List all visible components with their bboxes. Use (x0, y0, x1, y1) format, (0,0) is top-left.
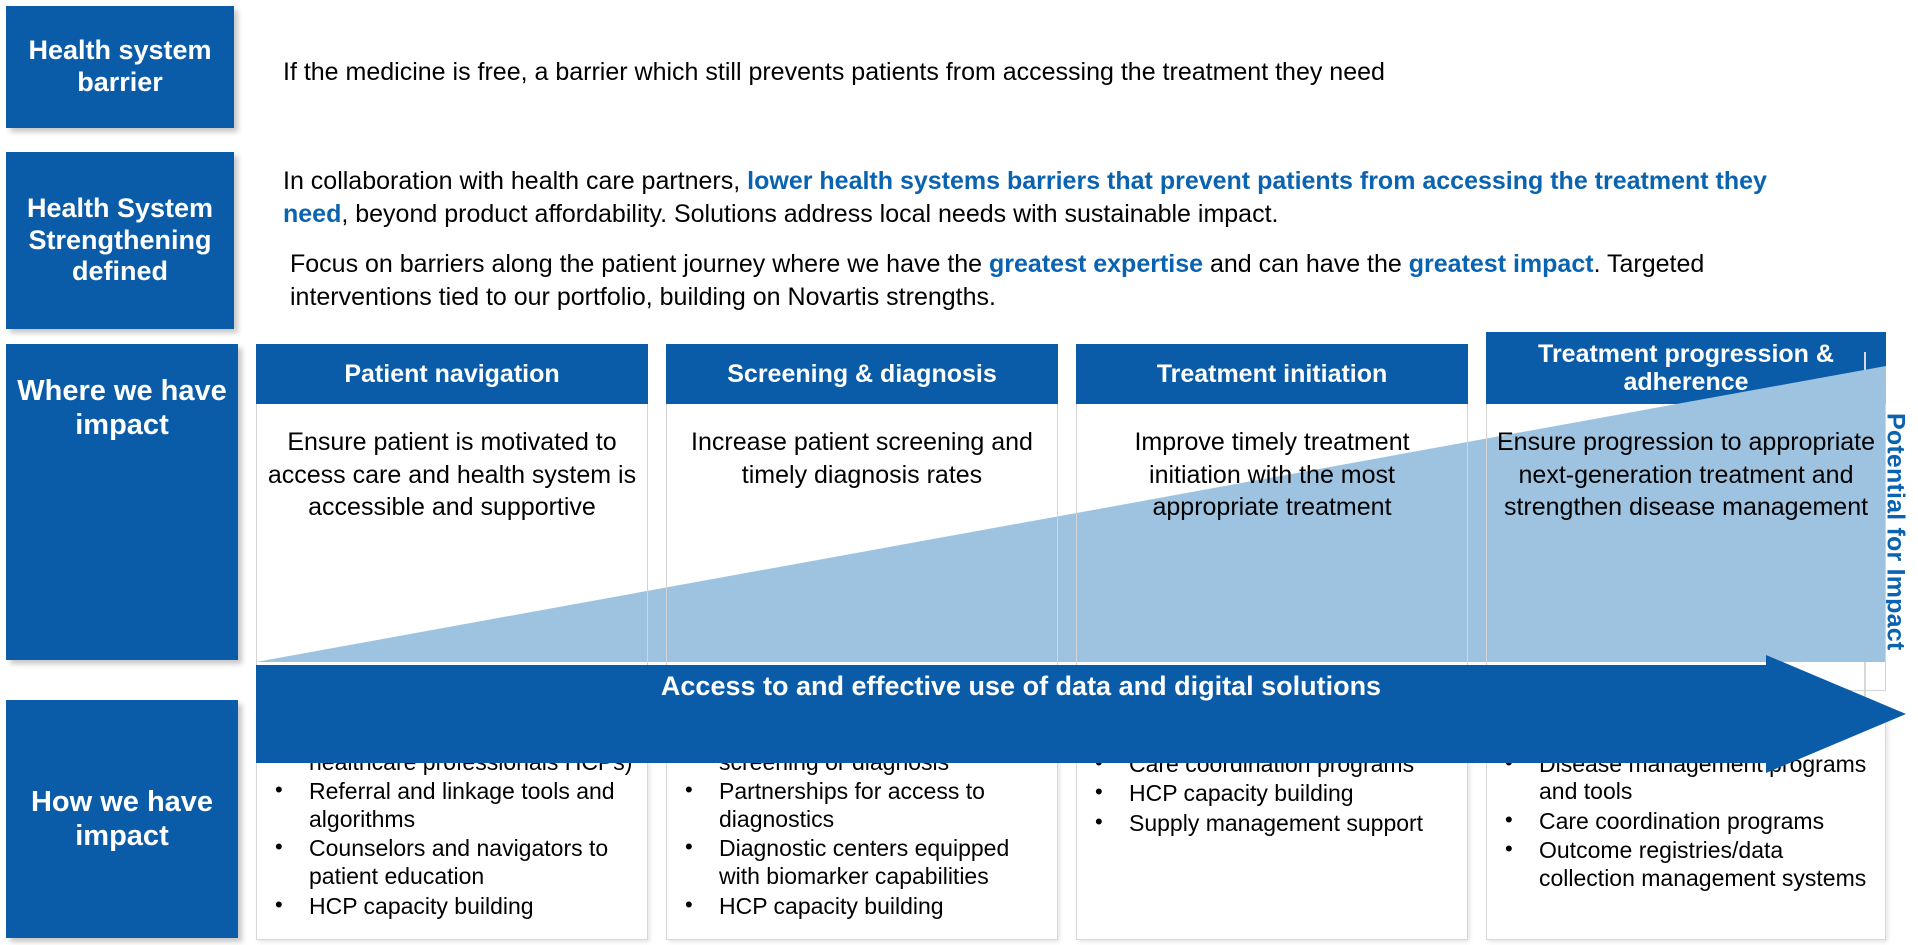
column-header-2: Screening & diagnosis (666, 344, 1058, 404)
hss-p1-plain-a: In collaboration with health care partne… (283, 167, 747, 195)
column-description-3: Improve timely treatment initiation with… (1076, 404, 1468, 679)
list-item: Partnerships for access to diagnostics (681, 778, 1049, 833)
slide-canvas: Health system barrier If the medicine is… (0, 0, 1918, 945)
hss-paragraph-1: In collaboration with health care partne… (283, 165, 1803, 231)
list-item: Counselors and navigators to patient edu… (271, 835, 639, 890)
list-item: Care coordination programs (1501, 808, 1877, 836)
impact-column-treatment-initiation: Treatment initiation Improve timely trea… (1076, 344, 1468, 679)
column-header-4: Treatment progression & adherence (1486, 332, 1886, 404)
hss-p2-plain-c: and can have the (1203, 250, 1409, 278)
column-header-3: Treatment initiation (1076, 344, 1468, 404)
list-item: Supply management support (1091, 810, 1459, 838)
hss-paragraph-2: Focus on barriers along the patient jour… (290, 248, 1850, 314)
list-item: HCP capacity building (271, 893, 639, 921)
list-item: Diagnostic centers equipped with biomark… (681, 835, 1049, 890)
row-label-how-we-have-impact: How we have impact (6, 700, 238, 938)
hss-p1-plain-c: , beyond product affordability. Solution… (341, 200, 1278, 228)
row-label-where-we-have-impact: Where we have impact (6, 344, 238, 660)
impact-column-patient-navigation: Patient navigation Ensure patient is mot… (256, 344, 648, 679)
impact-column-treatment-progression-adherence: Treatment progression & adherence Ensure… (1486, 344, 1886, 691)
data-digital-solutions-arrow (256, 655, 1906, 773)
column-description-2: Increase patient screening and timely di… (666, 404, 1058, 679)
column-description-1: Ensure patient is motivated to access ca… (256, 404, 648, 679)
hss-p2-plain-a: Focus on barriers along the patient jour… (290, 250, 989, 278)
health-system-barrier-text: If the medicine is free, a barrier which… (283, 56, 1883, 89)
hss-p2-highlight-impact: greatest impact (1409, 250, 1594, 278)
list-item: Outcome registries/data collection manag… (1501, 837, 1877, 892)
list-item: HCP capacity building (1091, 780, 1459, 808)
column-header-1: Patient navigation (256, 344, 648, 404)
list-item: HCP capacity building (681, 893, 1049, 921)
impact-column-screening-diagnosis: Screening & diagnosis Increase patient s… (666, 344, 1058, 679)
hss-p2-highlight-expertise: greatest expertise (989, 250, 1203, 278)
list-item: Referral and linkage tools and algorithm… (271, 778, 639, 833)
row-label-health-system-barrier: Health system barrier (6, 6, 234, 128)
column-description-4: Ensure progression to appropriate next-g… (1486, 404, 1886, 691)
row-label-health-system-strengthening-defined: Health System Strengthening defined (6, 152, 234, 329)
